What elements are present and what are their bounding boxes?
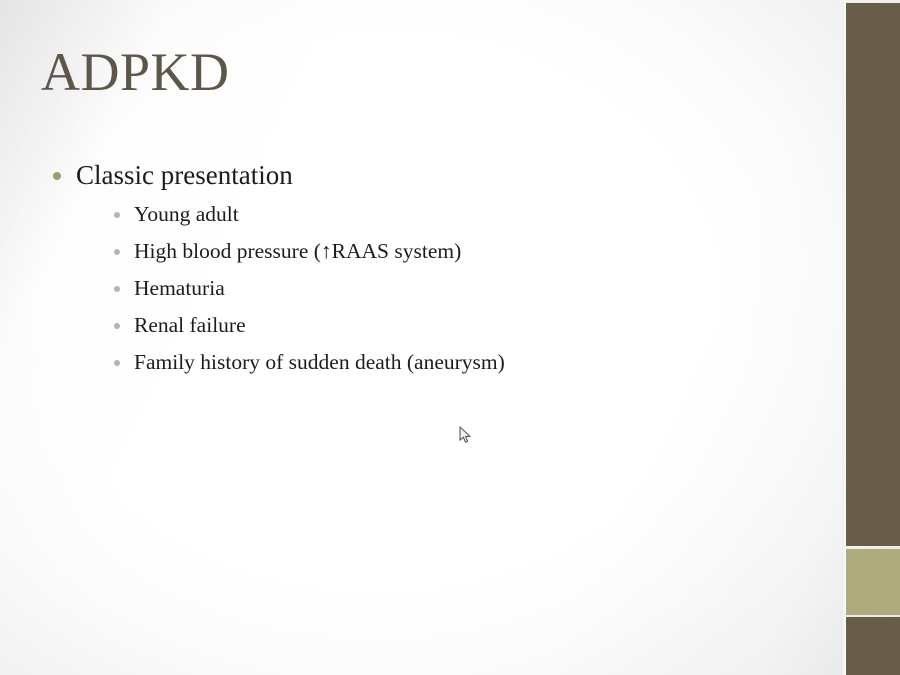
bullet-item-level2: Renal failure: [108, 307, 804, 344]
bullet-label: Young adult: [134, 202, 239, 226]
bullet-label: Renal failure: [134, 313, 246, 337]
bullet-label: Classic presentation: [76, 160, 293, 190]
slide-title: ADPKD: [41, 44, 230, 101]
slide-canvas: ADPKD Classic presentation Young adult H…: [0, 0, 900, 675]
bullet-dot-icon: [53, 172, 61, 180]
bullet-dot-icon: [114, 249, 120, 255]
bullet-dot-icon: [114, 323, 120, 329]
bullet-item-level2: Young adult: [108, 196, 804, 233]
sidebar-band-top: [846, 3, 900, 546]
bullet-item-level2: High blood pressure (↑RAAS system): [108, 233, 804, 270]
sidebar-band-middle: [846, 549, 900, 615]
bullet-list-level2: Young adult High blood pressure (↑RAAS s…: [76, 196, 804, 381]
slide-body: Classic presentation Young adult High bl…: [44, 158, 804, 383]
bullet-label: Family history of sudden death (aneurysm…: [134, 350, 505, 374]
arrow-cursor-icon: [459, 426, 473, 444]
bullet-list-level1: Classic presentation Young adult High bl…: [44, 158, 804, 381]
bullet-dot-icon: [114, 360, 120, 366]
sidebar-band-bottom: [846, 617, 900, 675]
bullet-label: Hematuria: [134, 276, 225, 300]
bullet-item-level2: Hematuria: [108, 270, 804, 307]
bullet-item-level2: Family history of sudden death (aneurysm…: [108, 344, 804, 381]
slide-decoration-sidebar: [842, 0, 900, 675]
bullet-label: High blood pressure (↑RAAS system): [134, 239, 461, 263]
bullet-dot-icon: [114, 212, 120, 218]
bullet-dot-icon: [114, 286, 120, 292]
bullet-item-level1: Classic presentation Young adult High bl…: [44, 158, 804, 381]
